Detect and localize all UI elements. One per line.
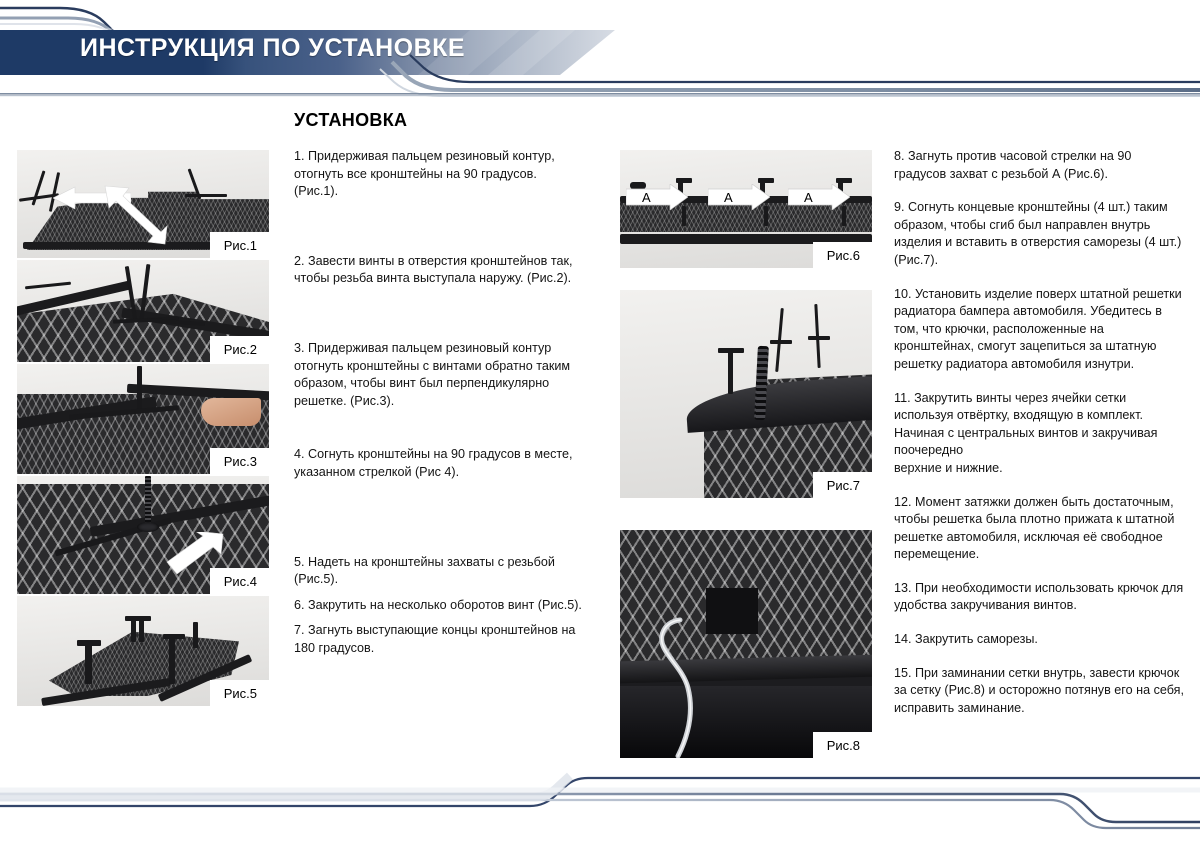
figure-image-6: A A A Рис.6: [620, 150, 872, 268]
section-heading: УСТАНОВКА: [294, 110, 407, 131]
steps-column-right: 8. Загнуть против часовой стрелки на 90 …: [894, 148, 1184, 717]
figure-image-8: Рис.8: [620, 530, 872, 758]
step-item-12: 12. Момент затяжки должен быть достаточн…: [894, 494, 1184, 564]
direction-arrow-diagonal-icon: [103, 184, 169, 246]
footer-graphic: [0, 760, 1200, 848]
step-item-3: 3. Придерживая пальцем резиновый контур …: [294, 340, 584, 410]
figure-caption-7: Рис.7: [813, 472, 872, 498]
figure-image-4: Рис.4: [17, 476, 269, 594]
figure-image-7: Рис.7: [620, 290, 872, 498]
figure-image-5: Рис.5: [17, 596, 269, 706]
figure-caption-6: Рис.6: [813, 242, 872, 268]
figure-caption-1: Рис.1: [210, 232, 269, 258]
figure-caption-5: Рис.5: [210, 680, 269, 706]
page-footer: [0, 760, 1200, 848]
figure-image-3: Рис.3: [17, 364, 269, 474]
steps-column-left: 1. Придерживая пальцем резиновый контур,…: [294, 148, 584, 658]
figure-caption-4: Рис.4: [210, 568, 269, 594]
step-item-4: 4. Согнуть кронштейны на 90 градусов в м…: [294, 446, 584, 481]
labeled-arrow-a-1-icon: A: [626, 184, 688, 210]
arrow-label-a-1: A: [642, 190, 651, 205]
labeled-arrow-a-2-icon: A: [708, 184, 770, 210]
step-item-11: 11. Закрутить винты через ячейки сетки и…: [894, 390, 1184, 478]
figure-caption-3: Рис.3: [210, 448, 269, 474]
step-item-9: 9. Согнуть концевые кронштейны (4 шт.) т…: [894, 199, 1184, 269]
step-item-10: 10. Установить изделие поверх штатной ре…: [894, 286, 1184, 374]
figure-caption-2: Рис.2: [210, 336, 269, 362]
step-item-13: 13. При необходимости использовать крючо…: [894, 580, 1184, 615]
content-area: УСТАНОВКА Рис.1: [0, 100, 1200, 760]
step-item-14: 14. Закрутить саморезы.: [894, 631, 1184, 649]
arrow-label-a-3: A: [804, 190, 813, 205]
labeled-arrow-a-3-icon: A: [788, 184, 850, 210]
figure-caption-8: Рис.8: [813, 732, 872, 758]
figure-image-1: Рис.1: [17, 150, 269, 258]
step-item-5: 5. Надеть на кронштейны захваты с резьбо…: [294, 554, 584, 589]
page-title: ИНСТРУКЦИЯ ПО УСТАНОВКЕ: [80, 28, 465, 68]
figure-column-middle: A A A Рис.6 Рис.: [620, 150, 872, 758]
arrow-label-a-2: A: [724, 190, 733, 205]
step-item-2: 2. Завести винты в отверстия кронштейнов…: [294, 253, 584, 288]
step-item-7: 7. Загнуть выступающие концы кронштейнов…: [294, 622, 584, 657]
step-item-8: 8. Загнуть против часовой стрелки на 90 …: [894, 148, 1184, 183]
page-header: ИНСТРУКЦИЯ ПО УСТАНОВКЕ: [0, 0, 1200, 100]
figure-image-2: Рис.2: [17, 260, 269, 362]
step-item-15: 15. При заминании сетки внутрь, завести …: [894, 665, 1184, 718]
step-item-1: 1. Придерживая пальцем резиновый контур,…: [294, 148, 584, 201]
step-item-6: 6. Закрутить на несколько оборотов винт …: [294, 597, 584, 615]
hook-tool-icon: [644, 616, 714, 758]
figure-column-left: Рис.1 Рис.2 Рис.3: [17, 150, 269, 706]
